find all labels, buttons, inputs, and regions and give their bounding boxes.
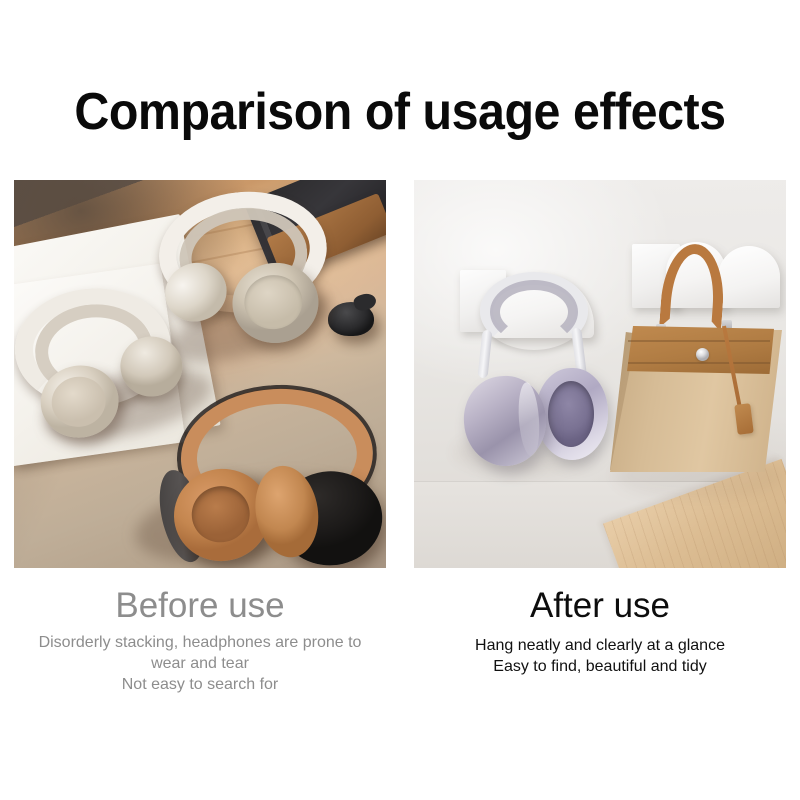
headphones-brown (167, 383, 386, 568)
before-line-2: wear and tear (0, 653, 400, 674)
before-photo (14, 180, 386, 568)
before-line-3: Not easy to search for (0, 674, 400, 695)
before-panel (14, 180, 386, 568)
comparison-infographic: Comparison of usage effects (0, 0, 800, 800)
after-photo (414, 180, 786, 568)
before-line-1: Disorderly stacking, headphones are pron… (0, 632, 400, 653)
before-caption: Before use Disorderly stacking, headphon… (0, 586, 400, 695)
bag-handle (659, 242, 727, 332)
before-heading: Before use (0, 586, 400, 626)
after-description: Hang neatly and clearly at a glance Easy… (400, 635, 800, 677)
bag-flap-stitch (628, 340, 770, 342)
after-line-1: Hang neatly and clearly at a glance (400, 635, 800, 656)
headband-mesh (490, 280, 578, 344)
after-panel (414, 180, 786, 568)
after-line-2: Easy to find, beautiful and tidy (400, 656, 800, 677)
before-description: Disorderly stacking, headphones are pron… (0, 632, 400, 695)
handbag (610, 244, 786, 494)
page-title: Comparison of usage effects (28, 84, 772, 140)
bag-flap-stitch (628, 362, 770, 364)
bag-clasp (696, 348, 709, 361)
headphones-hanging (458, 272, 608, 482)
headphones-white-left (14, 282, 191, 443)
earcup-front (461, 373, 549, 469)
after-caption: After use Hang neatly and clearly at a g… (400, 586, 800, 677)
after-heading: After use (400, 586, 800, 626)
headband-arm-left (478, 330, 493, 379)
earcup-back (536, 368, 608, 460)
